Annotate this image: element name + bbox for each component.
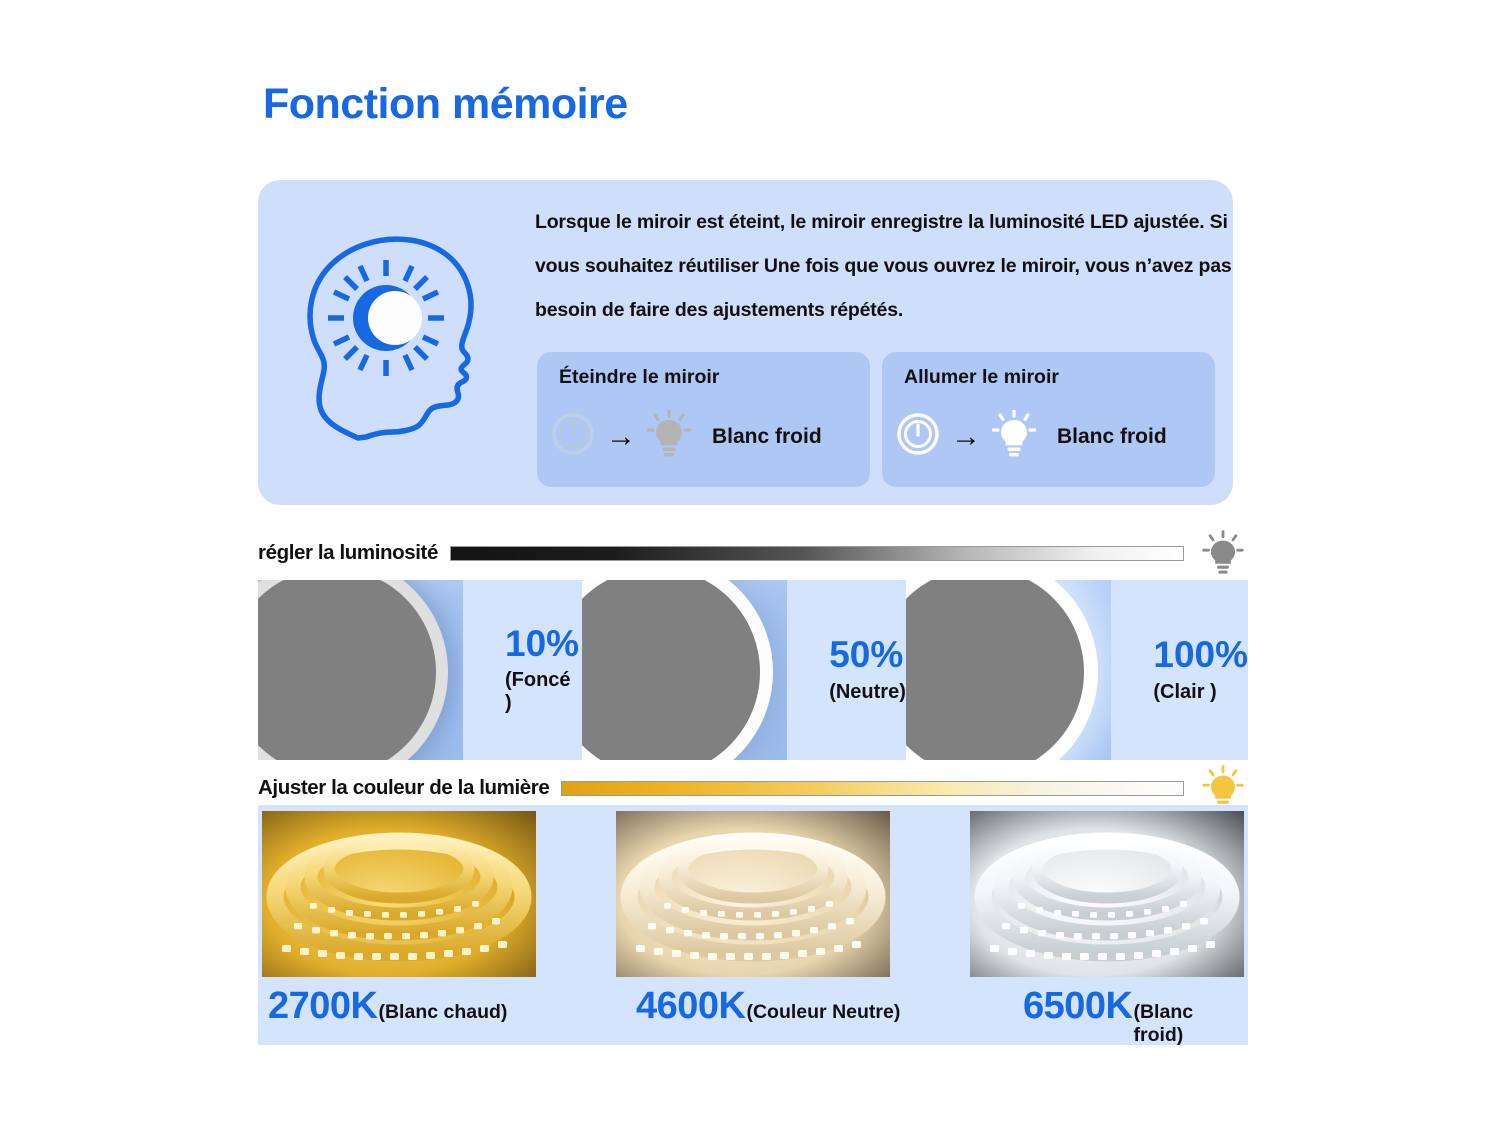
memory-description: Lorsque le miroir est éteint, le miroir … bbox=[535, 200, 1247, 332]
brightness-value: 10% bbox=[505, 625, 582, 664]
mirror-off-card: Éteindre le miroir → bbox=[537, 352, 870, 487]
brightness-note: (Clair ) bbox=[1153, 681, 1248, 704]
kelvin-item-6500k: 6500K (Blanc froid) bbox=[1023, 985, 1248, 1047]
kelvin-item-4600k: 4600K (Couleur Neutre) bbox=[636, 985, 900, 1028]
mirror-on-result: Blanc froid bbox=[1057, 425, 1167, 449]
mirror-off-sequence: → Blanc froid bbox=[551, 410, 822, 463]
brightness-level-100: 100% (Clair ) bbox=[1111, 580, 1248, 760]
brightness-slider-row[interactable]: régler la luminosité bbox=[258, 527, 1248, 579]
power-off-icon bbox=[551, 412, 595, 461]
memory-function-panel: Lorsque le miroir est éteint, le miroir … bbox=[258, 180, 1233, 505]
brightness-slider-label: régler la luminosité bbox=[258, 541, 438, 565]
led-strip-neutral-icon bbox=[616, 811, 890, 977]
bulb-dim-icon bbox=[647, 410, 691, 463]
kelvin-value: 4600K bbox=[636, 985, 745, 1028]
arrow-right-icon: → bbox=[951, 422, 981, 452]
brightness-levels-strip: 10% (Foncé ) 50% (Neutre) 100% (Clair ) bbox=[258, 580, 1248, 760]
kelvin-note: (Blanc chaud) bbox=[378, 1001, 507, 1024]
led-strip-warm-icon bbox=[262, 811, 536, 977]
kelvin-labels-row: 2700K (Blanc chaud) 4600K (Couleur Neutr… bbox=[258, 977, 1248, 1035]
power-on-icon bbox=[896, 412, 940, 461]
kelvin-item-2700k: 2700K (Blanc chaud) bbox=[268, 985, 507, 1028]
kelvin-value: 6500K bbox=[1023, 985, 1132, 1028]
head-with-sun-icon bbox=[288, 230, 508, 445]
brightness-value: 100% bbox=[1153, 636, 1248, 675]
kelvin-value: 2700K bbox=[268, 985, 377, 1028]
color-temperature-strip: 2700K (Blanc chaud) 4600K (Couleur Neutr… bbox=[258, 805, 1248, 1045]
brightness-level-50: 50% (Neutre) bbox=[787, 580, 906, 760]
led-strip-images bbox=[258, 811, 1248, 977]
led-strip-cool-icon bbox=[970, 811, 1244, 977]
mirror-on-card: Allumer le miroir → bbox=[882, 352, 1215, 487]
bulb-lit-icon bbox=[992, 410, 1036, 463]
brightness-note: (Neutre) bbox=[829, 681, 906, 704]
brightness-slider-track[interactable] bbox=[450, 546, 1184, 561]
mirror-dim-icon bbox=[258, 580, 463, 760]
brightness-value: 50% bbox=[829, 636, 906, 675]
brightness-level-10: 10% (Foncé ) bbox=[463, 580, 582, 760]
kelvin-note: (Couleur Neutre) bbox=[746, 1001, 900, 1024]
color-temperature-slider-label: Ajuster la couleur de la lumière bbox=[258, 776, 549, 800]
mirror-on-sequence: → Blanc froid bbox=[896, 410, 1167, 463]
mirror-off-result: Blanc froid bbox=[712, 425, 822, 449]
mirror-bright-icon bbox=[906, 580, 1111, 760]
mirror-off-title: Éteindre le miroir bbox=[559, 366, 719, 389]
page-title: Fonction mémoire bbox=[263, 80, 628, 129]
kelvin-note: (Blanc froid) bbox=[1133, 1001, 1248, 1047]
mirror-medium-icon bbox=[582, 580, 787, 760]
color-temperature-slider-track[interactable] bbox=[561, 781, 1184, 796]
brightness-note: (Foncé ) bbox=[505, 669, 582, 715]
arrow-right-icon: → bbox=[606, 422, 636, 452]
mirror-on-title: Allumer le miroir bbox=[904, 366, 1059, 389]
bulb-grey-icon bbox=[1198, 530, 1248, 576]
